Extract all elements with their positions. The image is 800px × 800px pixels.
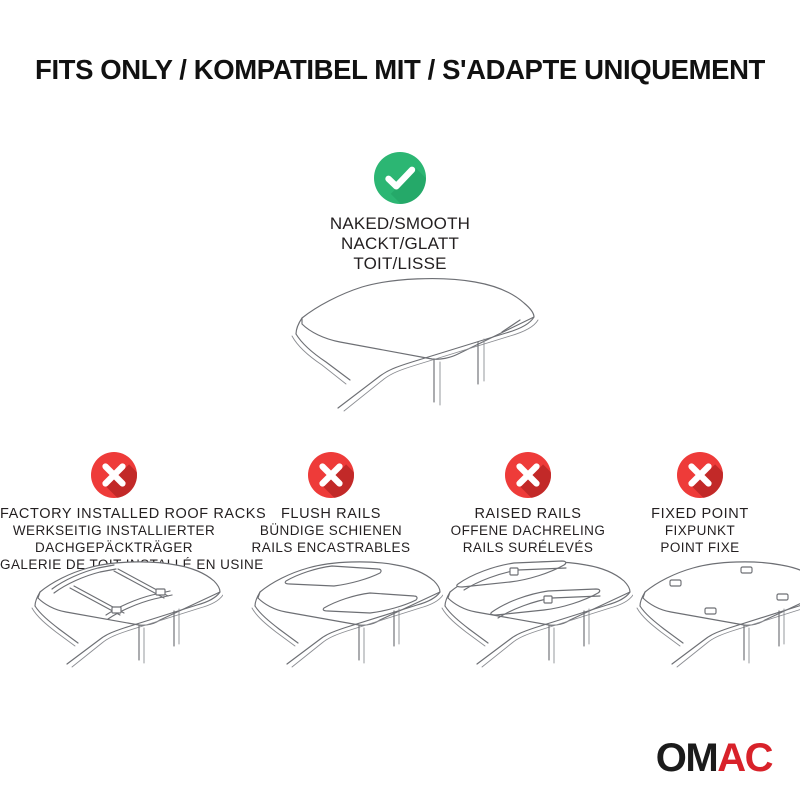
compatible-roof-type-labels: NAKED/SMOOTH NACKT/GLATT TOIT/LISSE (250, 214, 550, 274)
incompatible-roof-type-card-flush-rails: FLUSH RAILS BÜNDIGE SCHIENEN RAILS ENCAS… (236, 452, 426, 557)
check-circle-icon (374, 152, 426, 204)
roof-with-flush-rails-drawing (228, 548, 443, 708)
label-de-1: FIXPUNKT (630, 523, 770, 540)
label-de-1: OFFENE DACHRELING (430, 523, 626, 540)
label-de: NACKT/GLATT (250, 234, 550, 254)
page-title: FITS ONLY / KOMPATIBEL MIT / S'ADAPTE UN… (0, 54, 800, 86)
roof-with-fixed-points-drawing (613, 548, 800, 708)
label-en: FLUSH RAILS (236, 505, 426, 523)
logo-text-dark: OM (656, 736, 717, 780)
compatible-roof-type-card: NAKED/SMOOTH NACKT/GLATT TOIT/LISSE (250, 152, 550, 274)
x-circle-icon (677, 452, 723, 498)
label-en: RAISED RAILS (430, 505, 626, 523)
label-en: FIXED POINT (630, 505, 770, 523)
omac-brand-logo: OMAC (656, 738, 772, 778)
roof-with-raised-rails-drawing (418, 548, 633, 708)
label-de-1: BÜNDIGE SCHIENEN (236, 523, 426, 540)
label-en: NAKED/SMOOTH (250, 214, 550, 234)
x-circle-icon (308, 452, 354, 498)
x-circle-icon (91, 452, 137, 498)
smooth-bare-roof-drawing (262, 272, 562, 417)
logo-text-red: AC (717, 736, 772, 780)
roof-with-factory-crossbars-drawing (8, 548, 223, 708)
label-en: FACTORY INSTALLED ROOF RACKS (0, 505, 228, 523)
incompatible-roof-type-card-raised-rails: RAISED RAILS OFFENE DACHRELING RAILS SUR… (430, 452, 626, 557)
incompatible-roof-type-card-fixed-point: FIXED POINT FIXPUNKT POINT FIXE (630, 452, 770, 557)
x-circle-icon (505, 452, 551, 498)
incompatible-roof-types-row: FACTORY INSTALLED ROOF RACKS WERKSEITIG … (0, 452, 800, 562)
label-de-1: WERKSEITIG INSTALLIERTER (0, 523, 228, 540)
